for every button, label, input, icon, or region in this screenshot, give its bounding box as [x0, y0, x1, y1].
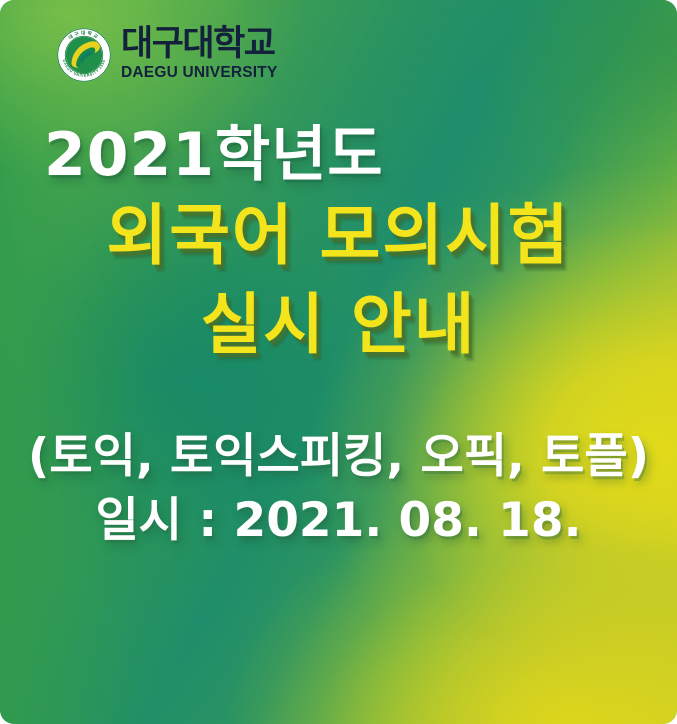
- university-name-english: DAEGU UNIVERSITY: [121, 65, 278, 81]
- academic-year-heading: 2021학년도: [0, 122, 677, 188]
- subject-heading: 외국어 모의시험: [0, 198, 677, 275]
- test-list-text: (토익, 토익스피킹, 오픽, 토플): [0, 429, 677, 485]
- daegu-university-emblem-icon: 대구대학교 DAEGU UNIVERSITY 1956: [56, 27, 112, 83]
- university-wordmark: 대구대학교 DAEGU UNIVERSITY: [121, 27, 278, 83]
- university-name-korean: 대구대학교: [121, 27, 275, 62]
- event-date-text: 일시 : 2021. 08. 18.: [0, 493, 677, 549]
- action-heading: 실시 안내: [0, 287, 677, 364]
- promotional-poster: 대구대학교 DAEGU UNIVERSITY 1956 대구대학교 DAEGU …: [0, 0, 677, 724]
- headline-stack: 2021학년도 외국어 모의시험 실시 안내 (토익, 토익스피킹, 오픽, 토…: [0, 122, 677, 550]
- university-logo-lockup: 대구대학교 DAEGU UNIVERSITY 1956 대구대학교 DAEGU …: [56, 27, 278, 83]
